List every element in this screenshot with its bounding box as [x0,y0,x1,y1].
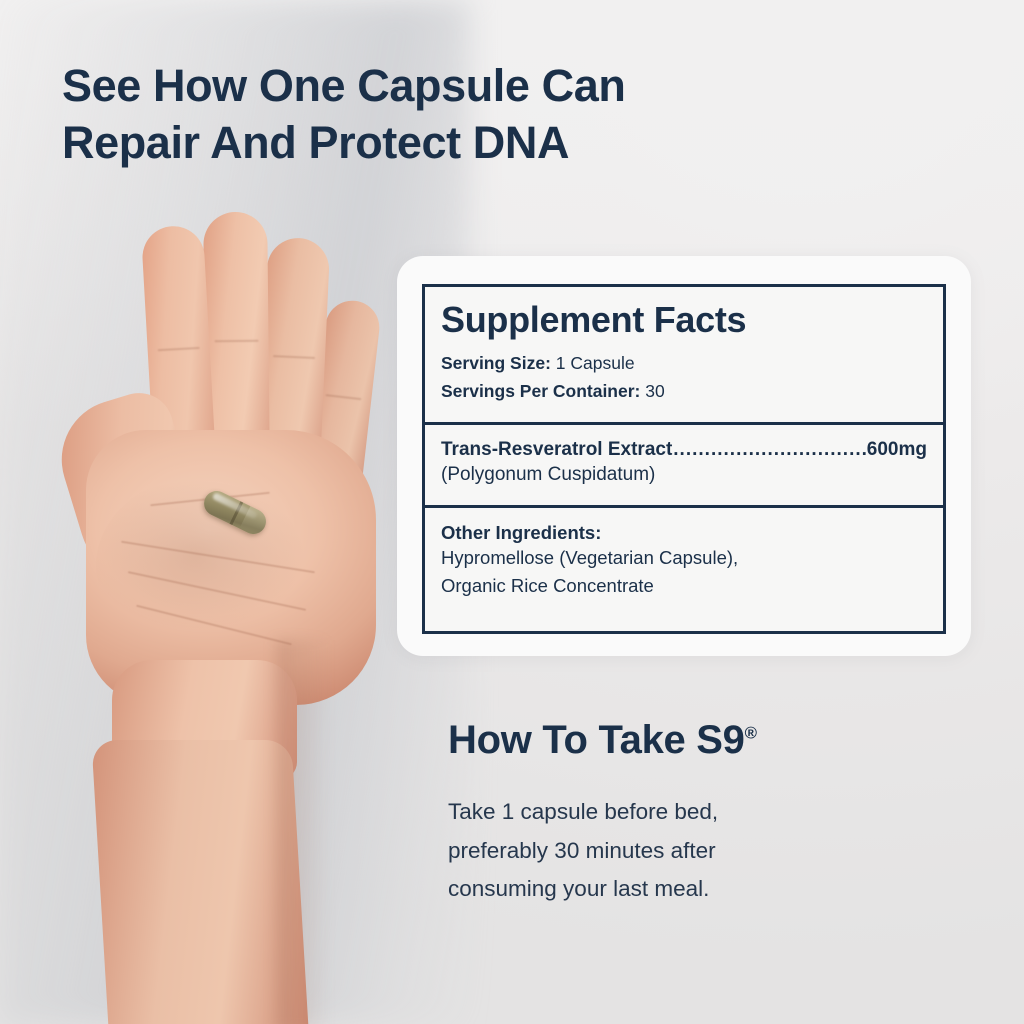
facts-title: Supplement Facts [441,287,927,349]
crease-line [273,355,315,359]
facts-header-section: Supplement Facts Serving Size: 1 Capsule… [425,287,943,422]
how-to-take-title-text: How To Take S9 [448,718,745,762]
supplement-facts-table: Supplement Facts Serving Size: 1 Capsule… [422,284,946,634]
supplement-facts-card: Supplement Facts Serving Size: 1 Capsule… [397,256,971,656]
servings-per-container-label: Servings Per Container: [441,381,640,401]
how-to-take-line: consuming your last meal. [448,870,838,909]
serving-size-row: Serving Size: 1 Capsule [441,349,927,377]
ingredient-amount: 600mg [867,439,927,461]
other-ingredients-section: Other Ingredients: Hypromellose (Vegetar… [425,508,943,617]
how-to-take-line: preferably 30 minutes after [448,832,838,871]
how-to-take-body: Take 1 capsule before bed, preferably 30… [448,793,838,909]
how-to-take-line: Take 1 capsule before bed, [448,793,838,832]
ingredient-section: Trans-Resveratrol Extract ..............… [425,425,943,506]
promo-image: See How One Capsule Can Repair And Prote… [0,0,1024,1024]
other-ingredients-line: Organic Rice Concentrate [441,572,927,600]
servings-per-container-row: Servings Per Container: 30 [441,377,927,405]
crease-line [215,340,259,342]
other-ingredients-label: Other Ingredients: [441,522,927,544]
ingredient-source: (Polygonum Cuspidatum) [441,461,927,506]
arm-edge-shadow [276,640,330,1024]
other-ingredients-line: Hypromellose (Vegetarian Capsule), [441,544,927,572]
dotted-leader: ........................................… [673,439,866,461]
ingredient-row: Trans-Resveratrol Extract ..............… [441,425,927,461]
serving-size-label: Serving Size: [441,353,551,373]
registered-trademark-icon: ® [745,724,757,743]
servings-per-container-value: 30 [640,381,664,401]
crease-line [158,347,200,351]
crease-line [325,394,361,400]
how-to-take-title: How To Take S9® [448,718,757,763]
serving-size-value: 1 Capsule [551,353,635,373]
ingredient-name: Trans-Resveratrol Extract [441,439,672,461]
